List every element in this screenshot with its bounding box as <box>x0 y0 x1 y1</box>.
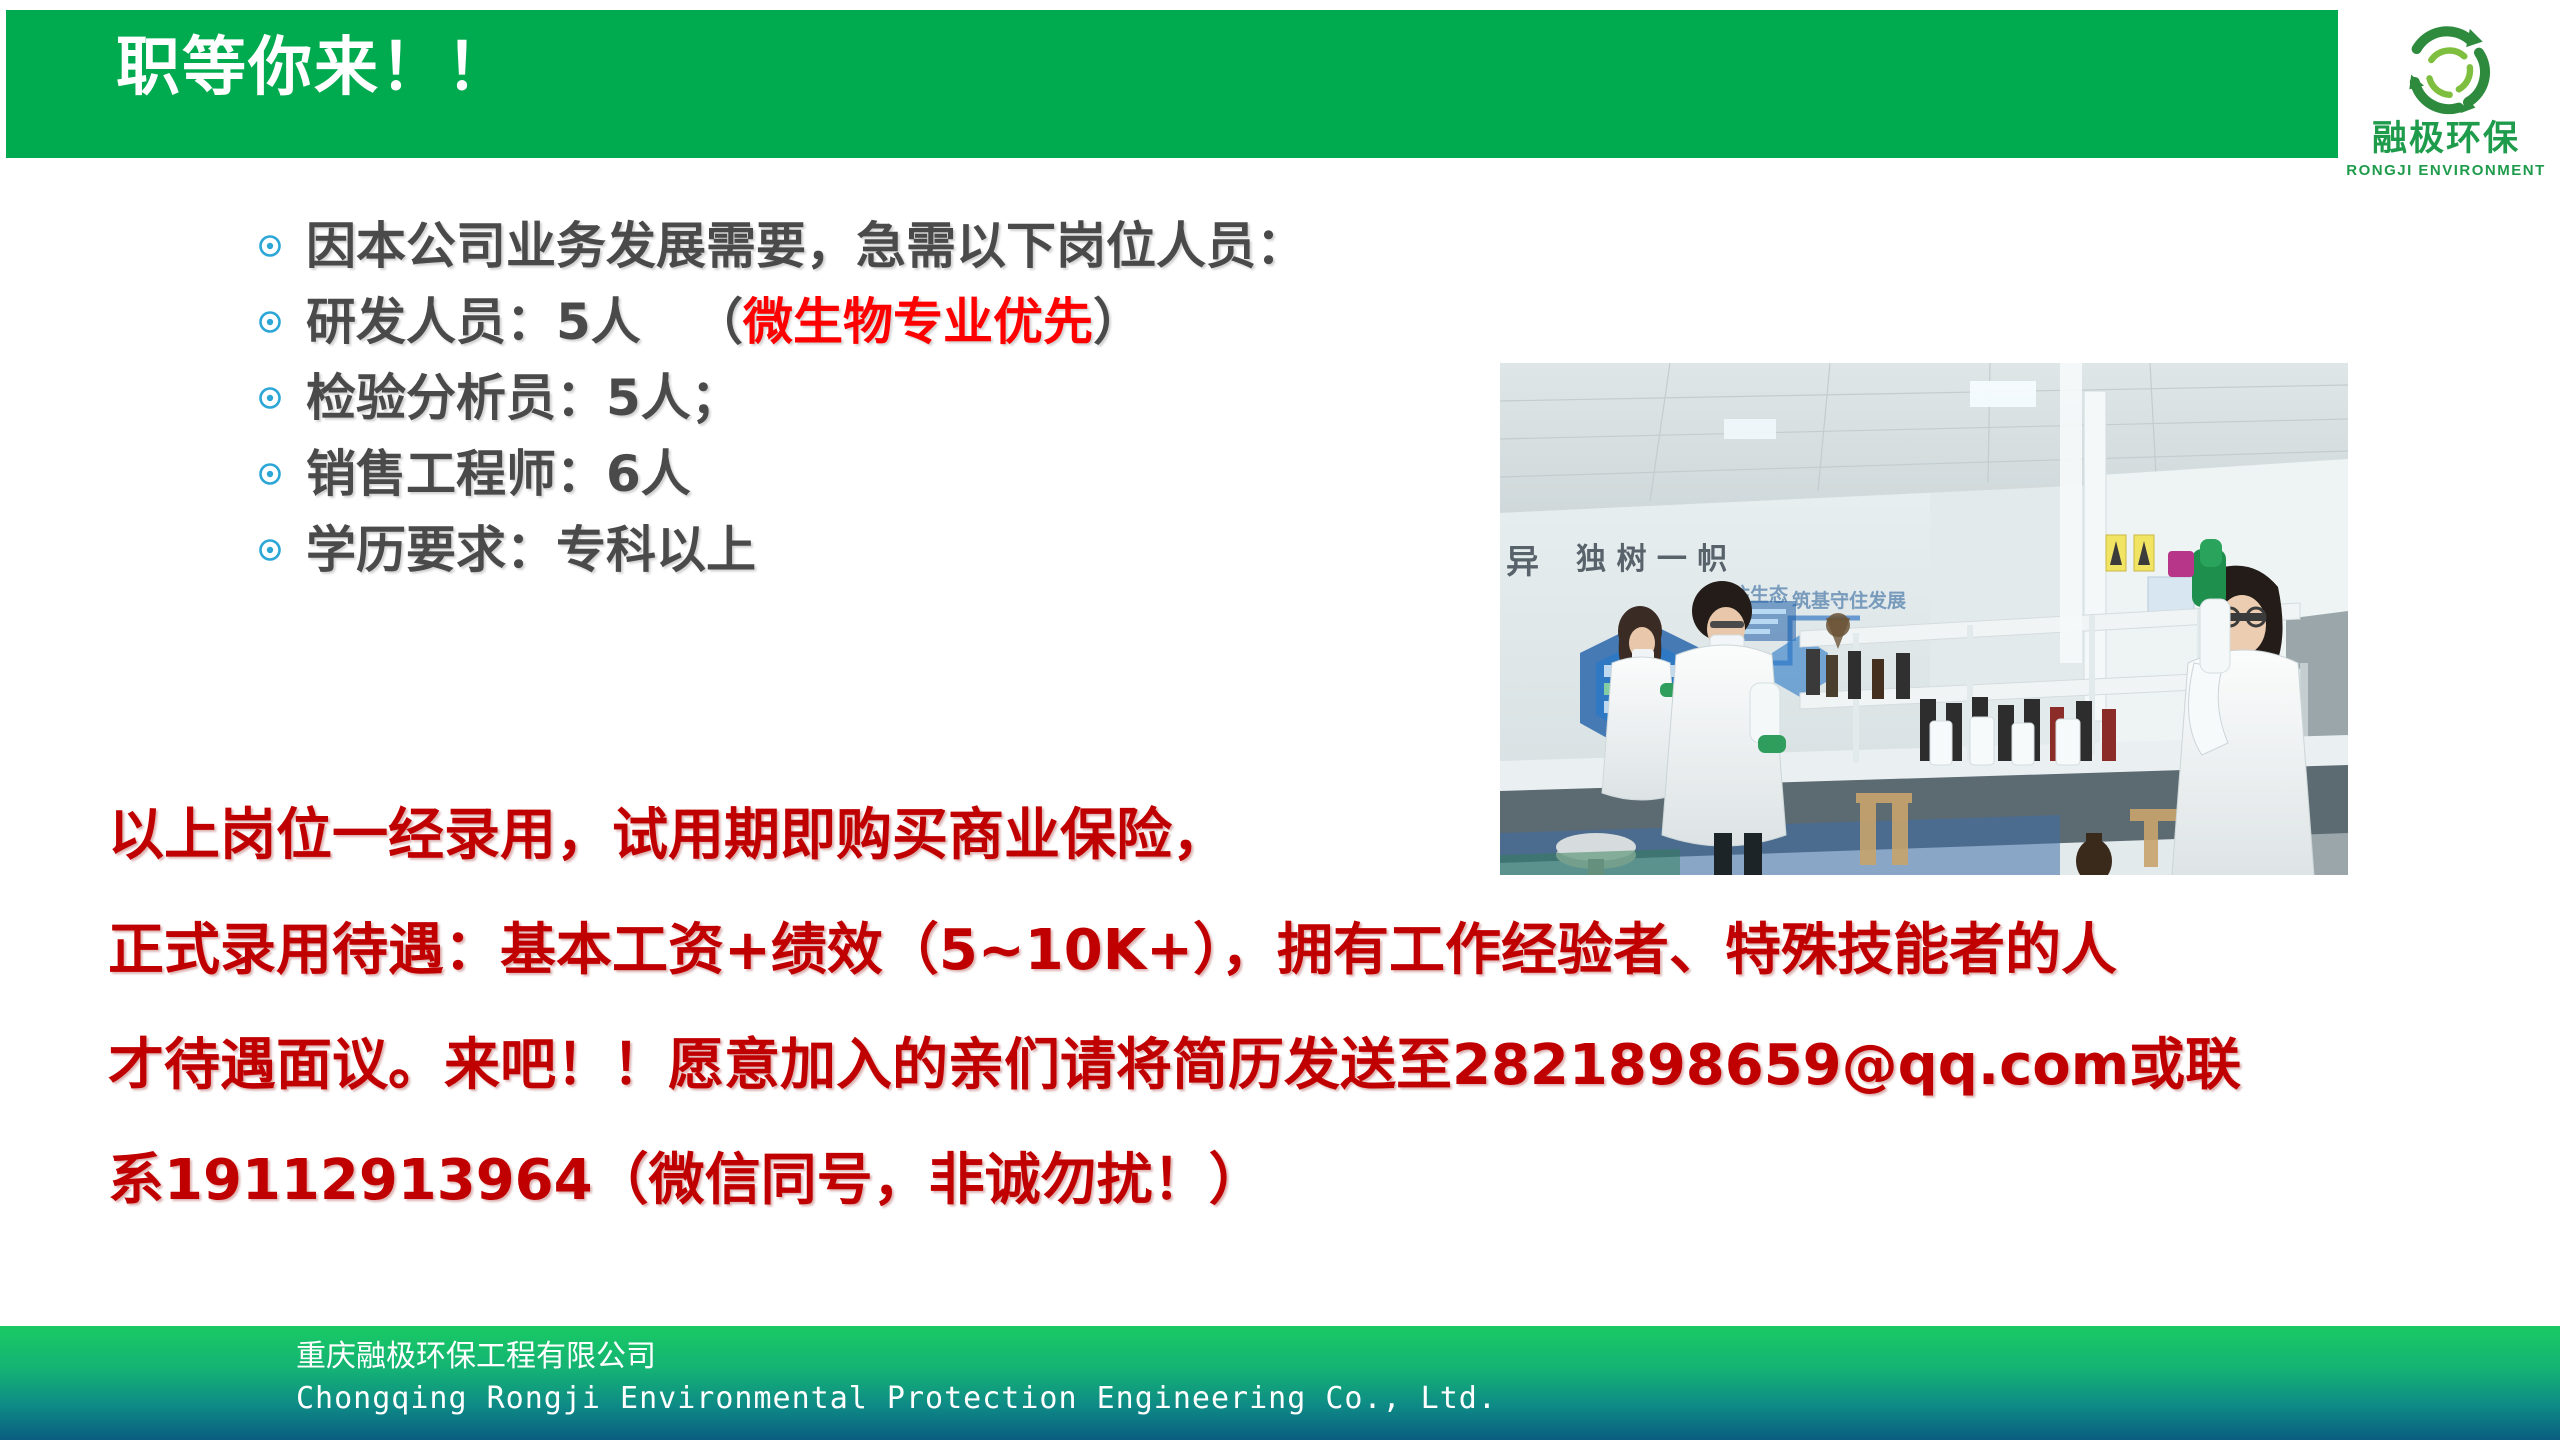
paren-open: （ <box>693 293 743 351</box>
rnd-position-label: 研发人员：5人 <box>306 293 641 351</box>
circled-dot-bullet-icon <box>250 385 290 411</box>
job-list: 因本公司业务发展需要，急需以下岗位人员： 研发人员：5人 （微生物专业优先） 检… <box>250 208 1550 588</box>
rnd-preference-highlight: 微生物专业优先 <box>743 293 1093 351</box>
paren-close: ） <box>1093 293 1143 351</box>
page-title: 职等你来！！ <box>116 36 512 100</box>
list-item: 因本公司业务发展需要，急需以下岗位人员： <box>250 208 1550 284</box>
notice-line: 正式录用待遇：基本工资+绩效（5~10K+），拥有工作经验者、特殊技能者的人 <box>108 893 2508 1008</box>
list-item-label: 销售工程师：6人 <box>290 447 691 502</box>
recycle-circle-icon <box>2391 16 2501 126</box>
recruitment-notice: 以上岗位一经录用，试用期即购买商业保险， 正式录用待遇：基本工资+绩效（5~10… <box>108 778 2508 1238</box>
list-item: 销售工程师：6人 <box>250 436 1550 512</box>
logo-name-cn: 融极环保 <box>2372 122 2520 157</box>
circled-dot-bullet-icon <box>250 461 290 487</box>
header-banner: 职等你来！！ <box>6 10 2554 158</box>
list-item: 研发人员：5人 （微生物专业优先） <box>250 284 1550 360</box>
list-item-label: 检验分析员：5人； <box>290 371 741 426</box>
notice-line: 才待遇面议。来吧！！愿意加入的亲们请将简历发送至2821898659@qq.co… <box>108 1008 2508 1123</box>
list-item-label: 学历要求：专科以上 <box>290 523 756 578</box>
list-item: 学历要求：专科以上 <box>250 512 1550 588</box>
footer-company-en: Chongqing Rongji Environmental Protectio… <box>296 1382 1497 1415</box>
footer-company-cn: 重庆融极环保工程有限公司 <box>296 1340 656 1373</box>
slide-canvas: 职等你来！！ 融极环保 RONGJI ENVIRONMENT <box>0 0 2560 1440</box>
list-item-label: 研发人员：5人 （微生物专业优先） <box>290 295 1143 350</box>
notice-line: 以上岗位一经录用，试用期即购买商业保险， <box>108 778 2508 893</box>
circled-dot-bullet-icon <box>250 233 290 259</box>
logo-name-en: RONGJI ENVIRONMENT <box>2346 163 2546 178</box>
list-item-label: 因本公司业务发展需要，急需以下岗位人员： <box>290 219 1306 274</box>
list-item: 检验分析员：5人； <box>250 360 1550 436</box>
svg-text:异: 异 <box>1506 542 1539 581</box>
footer-bar: 重庆融极环保工程有限公司 Chongqing Rongji Environmen… <box>0 1326 2560 1440</box>
notice-line: 系19112913964（微信同号，非诚勿扰！） <box>108 1123 2508 1238</box>
svg-text:筑基守住发展: 筑基守住发展 <box>1792 589 1906 612</box>
circled-dot-bullet-icon <box>250 309 290 335</box>
svg-text:独 树 一 帜: 独 树 一 帜 <box>1576 542 1727 577</box>
company-logo: 融极环保 RONGJI ENVIRONMENT <box>2338 6 2554 202</box>
circled-dot-bullet-icon <box>250 537 290 563</box>
